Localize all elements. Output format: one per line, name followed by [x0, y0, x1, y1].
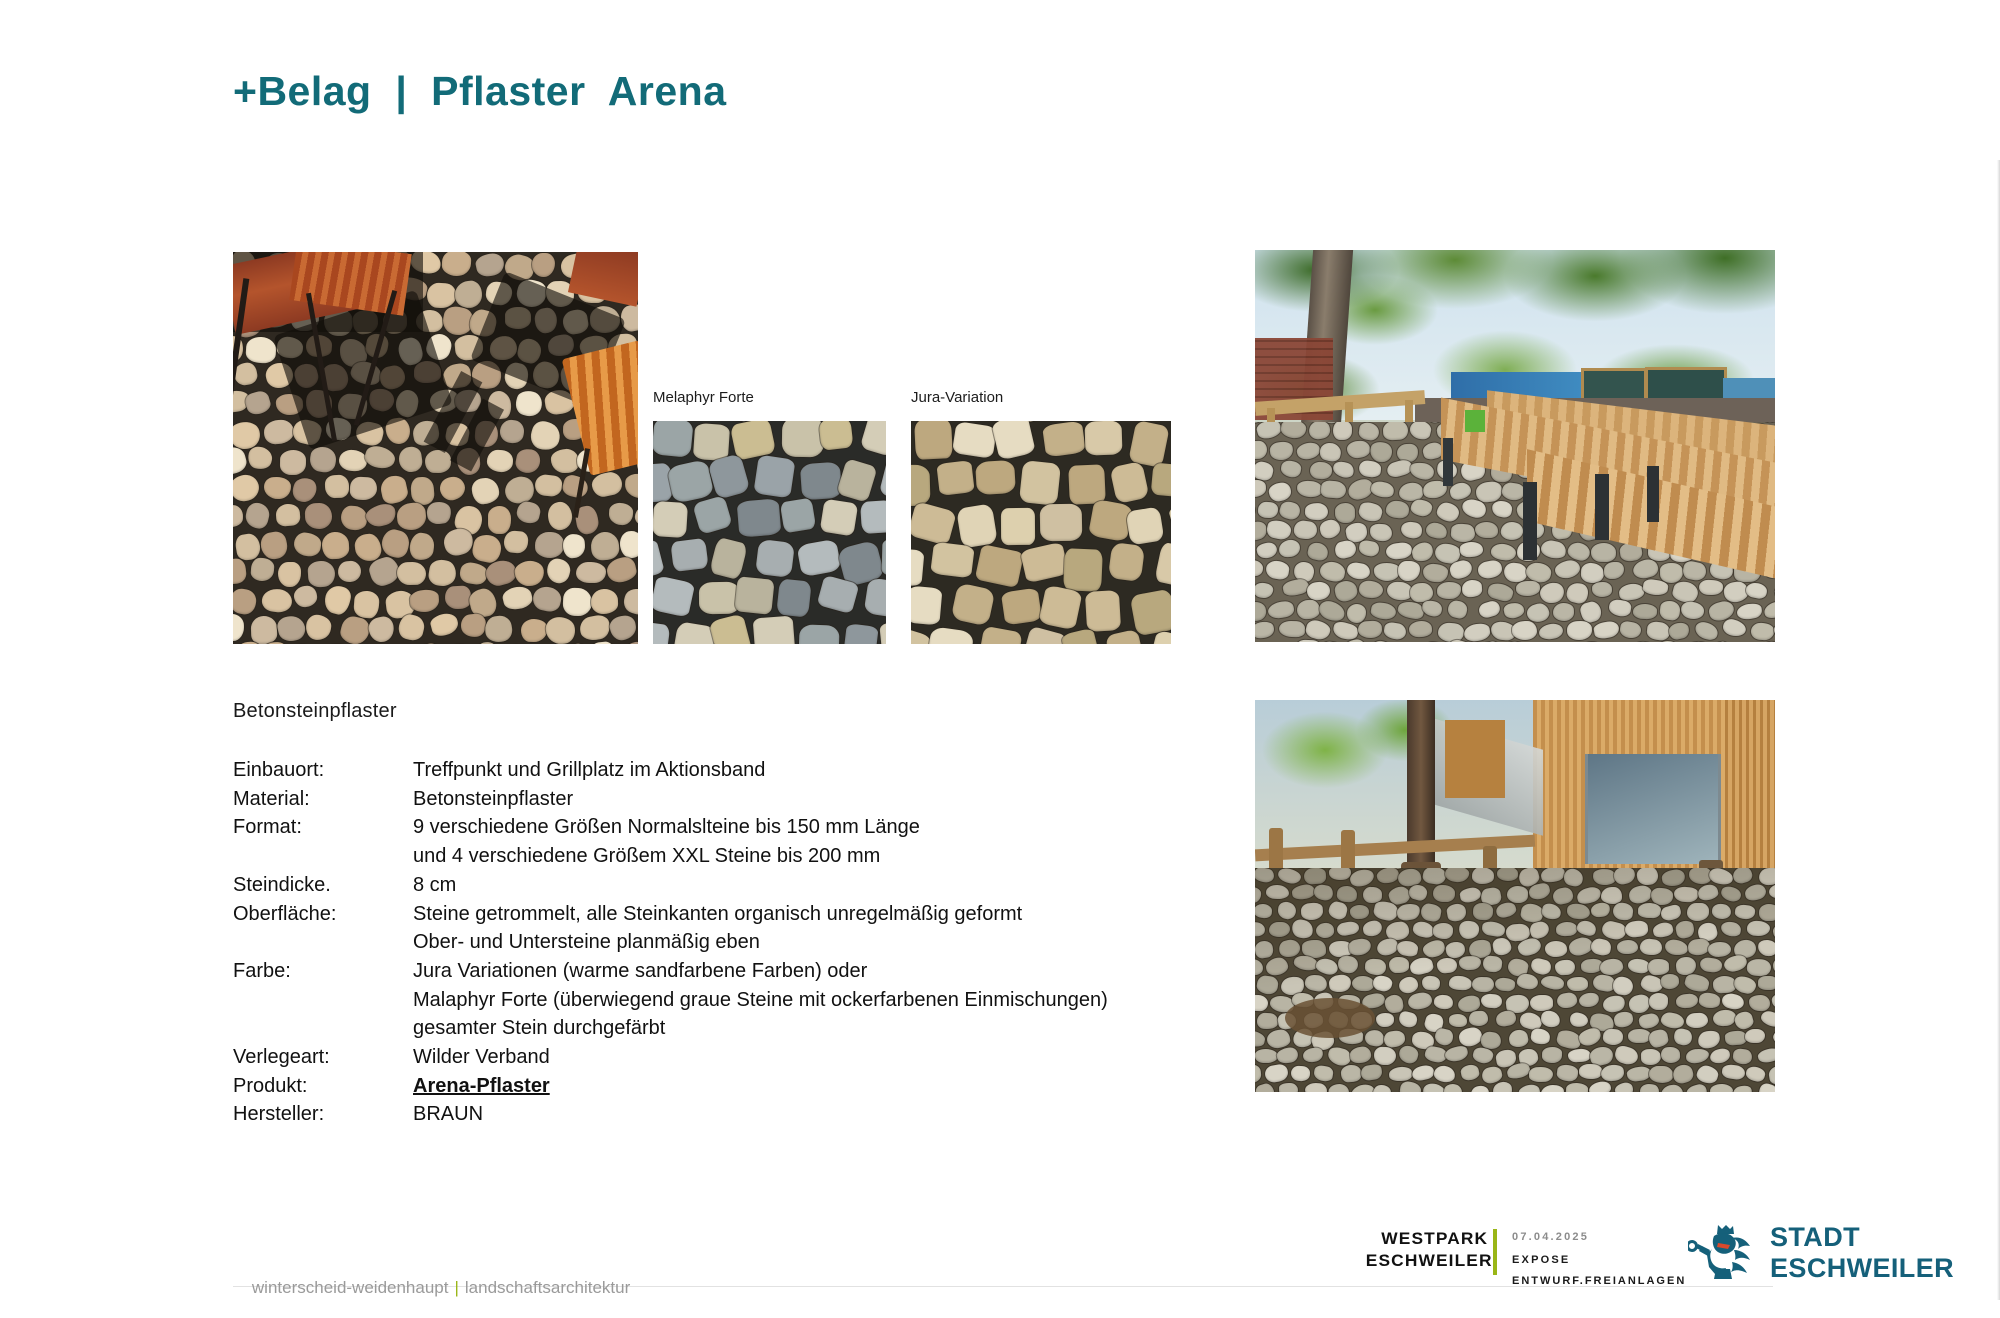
- spec-key: Farbe:: [233, 957, 413, 986]
- page-title: +Belag | Pflaster Arena: [233, 68, 727, 115]
- document-meta: 07.04.2025 EXPOSE ENTWURF.FREIANLAGEN: [1512, 1228, 1686, 1290]
- spec-key: Produkt:: [233, 1072, 413, 1101]
- westpark-accent-bar: [1493, 1229, 1497, 1275]
- stadt-eschweiler-logo: STADT ESCHWEILER: [1688, 1222, 1954, 1284]
- spec-row: Farbe:gesamter Stein durchgefärbt: [233, 1014, 1108, 1043]
- swatch-melaphyr-forte: [653, 421, 886, 644]
- swatch-label-jura: Jura-Variation: [911, 389, 1003, 406]
- footer-office-credit: winterscheid-weidenhaupt|landschaftsarch…: [233, 1258, 630, 1318]
- meta-scope: ENTWURF.FREIANLAGEN: [1512, 1272, 1686, 1290]
- spec-value: 8 cm: [413, 871, 1108, 900]
- spec-key: Einbauort:: [233, 756, 413, 785]
- spec-value: und 4 verschiedene Größem XXL Steine bis…: [413, 842, 1108, 871]
- meta-doctype: EXPOSE: [1512, 1251, 1686, 1269]
- spec-key: Hersteller:: [233, 1100, 413, 1129]
- slide-canvas: +Belag | Pflaster Arena Melaphyr Forte J…: [0, 0, 2000, 1300]
- spec-row: Format:9 verschiedene Größen Normalsltei…: [233, 813, 1108, 842]
- spec-value: BRAUN: [413, 1100, 1108, 1129]
- spec-value: Arena-Pflaster: [413, 1072, 1108, 1101]
- spec-value: Jura Variationen (warme sandfarbene Farb…: [413, 957, 1108, 986]
- spec-key: Verlegeart:: [233, 1043, 413, 1072]
- photo-courtyard-paving: [1255, 700, 1775, 1092]
- westpark-line1: WESTPARK: [1366, 1228, 1488, 1250]
- spec-row: Material:Betonsteinpflaster: [233, 785, 1108, 814]
- spec-row: Verlegeart:Wilder Verband: [233, 1043, 1108, 1072]
- swatch-jura-variation: [911, 421, 1171, 644]
- spec-row: Produkt:Arena-Pflaster: [233, 1072, 1108, 1101]
- office-discipline: landschaftsarchitektur: [465, 1278, 630, 1297]
- meta-date: 07.04.2025: [1512, 1228, 1686, 1246]
- spec-row: Hersteller:BRAUN: [233, 1100, 1108, 1129]
- spec-key: Oberfläche:: [233, 900, 413, 929]
- material-heading: Betonsteinpflaster: [233, 700, 397, 723]
- spec-value: gesamter Stein durchgefärbt: [413, 1014, 1108, 1043]
- spec-row: Einbauort:Treffpunkt und Grillplatz im A…: [233, 756, 1108, 785]
- stadt-line1: STADT: [1770, 1222, 1954, 1253]
- spec-row: Oberfläche:Steine getrommelt, alle Stein…: [233, 900, 1108, 929]
- spec-key: Steindicke.: [233, 871, 413, 900]
- spec-value: Steine getrommelt, alle Steinkanten orga…: [413, 900, 1108, 929]
- stadt-line2: ESCHWEILER: [1770, 1253, 1954, 1284]
- photo-arena-with-benches: [1255, 250, 1775, 642]
- spec-row: Oberfläche:Ober- und Untersteine planmäß…: [233, 928, 1108, 957]
- spec-row: Steindicke.8 cm: [233, 871, 1108, 900]
- spec-value: Ober- und Untersteine planmäßig eben: [413, 928, 1108, 957]
- footer-divider-glyph: |: [448, 1278, 464, 1297]
- spec-value: Treffpunkt und Grillplatz im Aktionsband: [413, 756, 1108, 785]
- spec-value: Malaphyr Forte (überwiegend graue Steine…: [413, 986, 1108, 1015]
- spec-value: 9 verschiedene Größen Normalslteine bis …: [413, 813, 1108, 842]
- spec-row: Farbe:Malaphyr Forte (überwiegend graue …: [233, 986, 1108, 1015]
- spec-row: Format:und 4 verschiedene Größem XXL Ste…: [233, 842, 1108, 871]
- westpark-logo: WESTPARK ESCHWEILER: [1367, 1228, 1487, 1272]
- office-name: winterscheid-weidenhaupt: [252, 1278, 449, 1297]
- spec-value: Wilder Verband: [413, 1043, 1108, 1072]
- spec-key: Format:: [233, 813, 413, 842]
- photo-cobblestone-with-chairs: [233, 252, 638, 644]
- lion-crest-icon: [1688, 1222, 1756, 1284]
- westpark-line2: ESCHWEILER: [1366, 1250, 1488, 1272]
- spec-value: Betonsteinpflaster: [413, 785, 1108, 814]
- spec-row: Farbe:Jura Variationen (warme sandfarben…: [233, 957, 1108, 986]
- swatch-label-melaphyr: Melaphyr Forte: [653, 389, 754, 406]
- spec-key: Material:: [233, 785, 413, 814]
- specification-list: Einbauort:Treffpunkt und Grillplatz im A…: [233, 756, 1108, 1129]
